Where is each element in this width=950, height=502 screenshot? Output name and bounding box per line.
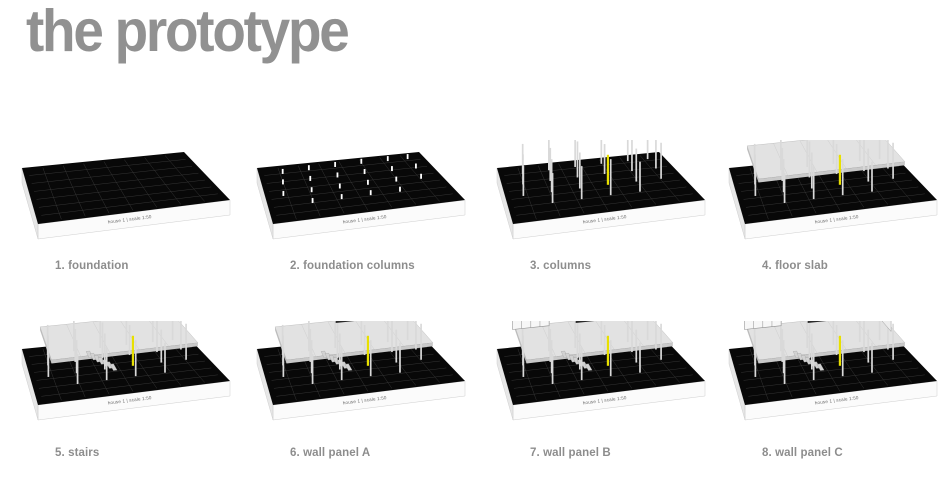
- model-thumbnail[interactable]: house 1 | scale 1:50: [8, 140, 236, 258]
- model-thumbnail[interactable]: house 1 | scale 1:50: [243, 321, 471, 439]
- step-caption: 5. stairs: [55, 447, 99, 459]
- step-caption: 8. wall panel C: [762, 447, 843, 459]
- model-thumbnail[interactable]: house 1 | scale 1:50: [243, 140, 471, 258]
- model-thumbnail[interactable]: house 1 | scale 1:50: [483, 321, 711, 439]
- step-card-2[interactable]: house 1 | scale 1:502. foundation column…: [243, 140, 478, 321]
- model-thumbnail[interactable]: house 1 | scale 1:50: [483, 140, 711, 258]
- model-thumbnail[interactable]: house 1 | scale 1:50: [8, 321, 236, 439]
- page-title: the prototype: [26, 0, 348, 66]
- step-card-6[interactable]: house 1 | scale 1:506. wall panel A: [243, 321, 478, 502]
- model-thumbnail[interactable]: house 1 | scale 1:50: [715, 321, 943, 439]
- step-card-4[interactable]: house 1 | scale 1:504. floor slab: [715, 140, 950, 321]
- step-caption: 7. wall panel B: [530, 447, 611, 459]
- step-caption: 1. foundation: [55, 260, 128, 272]
- step-caption: 2. foundation columns: [290, 260, 415, 272]
- prototype-step-grid: house 1 | scale 1:501. foundation house …: [0, 140, 950, 502]
- step-card-5[interactable]: house 1 | scale 1:505. stairs: [8, 321, 243, 502]
- step-card-3[interactable]: house 1 | scale 1:503. columns: [483, 140, 718, 321]
- step-card-1[interactable]: house 1 | scale 1:501. foundation: [8, 140, 243, 321]
- step-row-bottom: house 1 | scale 1:505. stairs house 1 | …: [0, 321, 950, 502]
- step-row-top: house 1 | scale 1:501. foundation house …: [0, 140, 950, 321]
- step-card-8[interactable]: house 1 | scale 1:508. wall panel C: [715, 321, 950, 502]
- step-caption: 4. floor slab: [762, 260, 828, 272]
- step-card-7[interactable]: house 1 | scale 1:507. wall panel B: [483, 321, 718, 502]
- model-thumbnail[interactable]: house 1 | scale 1:50: [715, 140, 943, 258]
- step-caption: 6. wall panel A: [290, 447, 370, 459]
- step-caption: 3. columns: [530, 260, 591, 272]
